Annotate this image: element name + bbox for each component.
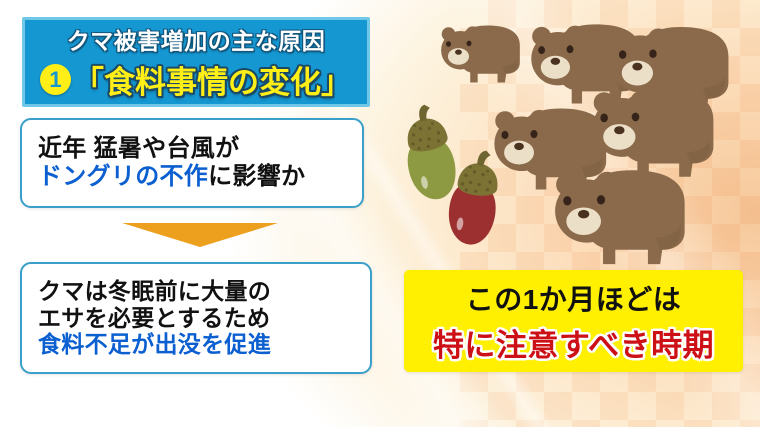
alert-line-2: 特に注意すべき時期 xyxy=(433,320,714,365)
cause-text-box: 近年 猛暑や台風が ドングリの不作に影響か xyxy=(20,118,364,208)
bears-and-acorns-illustration xyxy=(380,0,760,270)
header-title-line2: 1 「食料事情の変化」 xyxy=(40,57,352,102)
header-panel: クマ被害増加の主な原因 1 「食料事情の変化」 xyxy=(22,17,370,107)
alert-line-1: この1か月ほどは xyxy=(466,278,682,318)
effect-line-3: 食料不足が出没を促進 xyxy=(38,331,370,358)
down-arrow-icon xyxy=(122,223,278,247)
cause-number-badge: 1 xyxy=(40,64,71,95)
effect-line-2: エサを必要とするため xyxy=(38,305,370,332)
alert-box: この1か月ほどは 特に注意すべき時期 xyxy=(404,270,743,372)
cause-line-2-rest: に影響か xyxy=(208,163,305,190)
effect-line-1: クマは冬眠前に大量の xyxy=(38,278,370,305)
cause-line-2: ドングリの不作に影響か xyxy=(38,163,362,191)
header-quoted-cause: 「食料事情の変化」 xyxy=(73,57,352,102)
graphic-canvas: クマ被害増加の主な原因 1 「食料事情の変化」 近年 猛暑や台風が ドングリの不… xyxy=(0,0,760,427)
cause-line-1: 近年 猛暑や台風が xyxy=(38,135,362,163)
effect-text-box: クマは冬眠前に大量の エサを必要とするため 食料不足が出没を促進 xyxy=(20,262,372,374)
cause-line-2-highlight: ドングリの不作 xyxy=(38,163,208,190)
header-title-line1: クマ被害増加の主な原因 xyxy=(67,22,326,56)
